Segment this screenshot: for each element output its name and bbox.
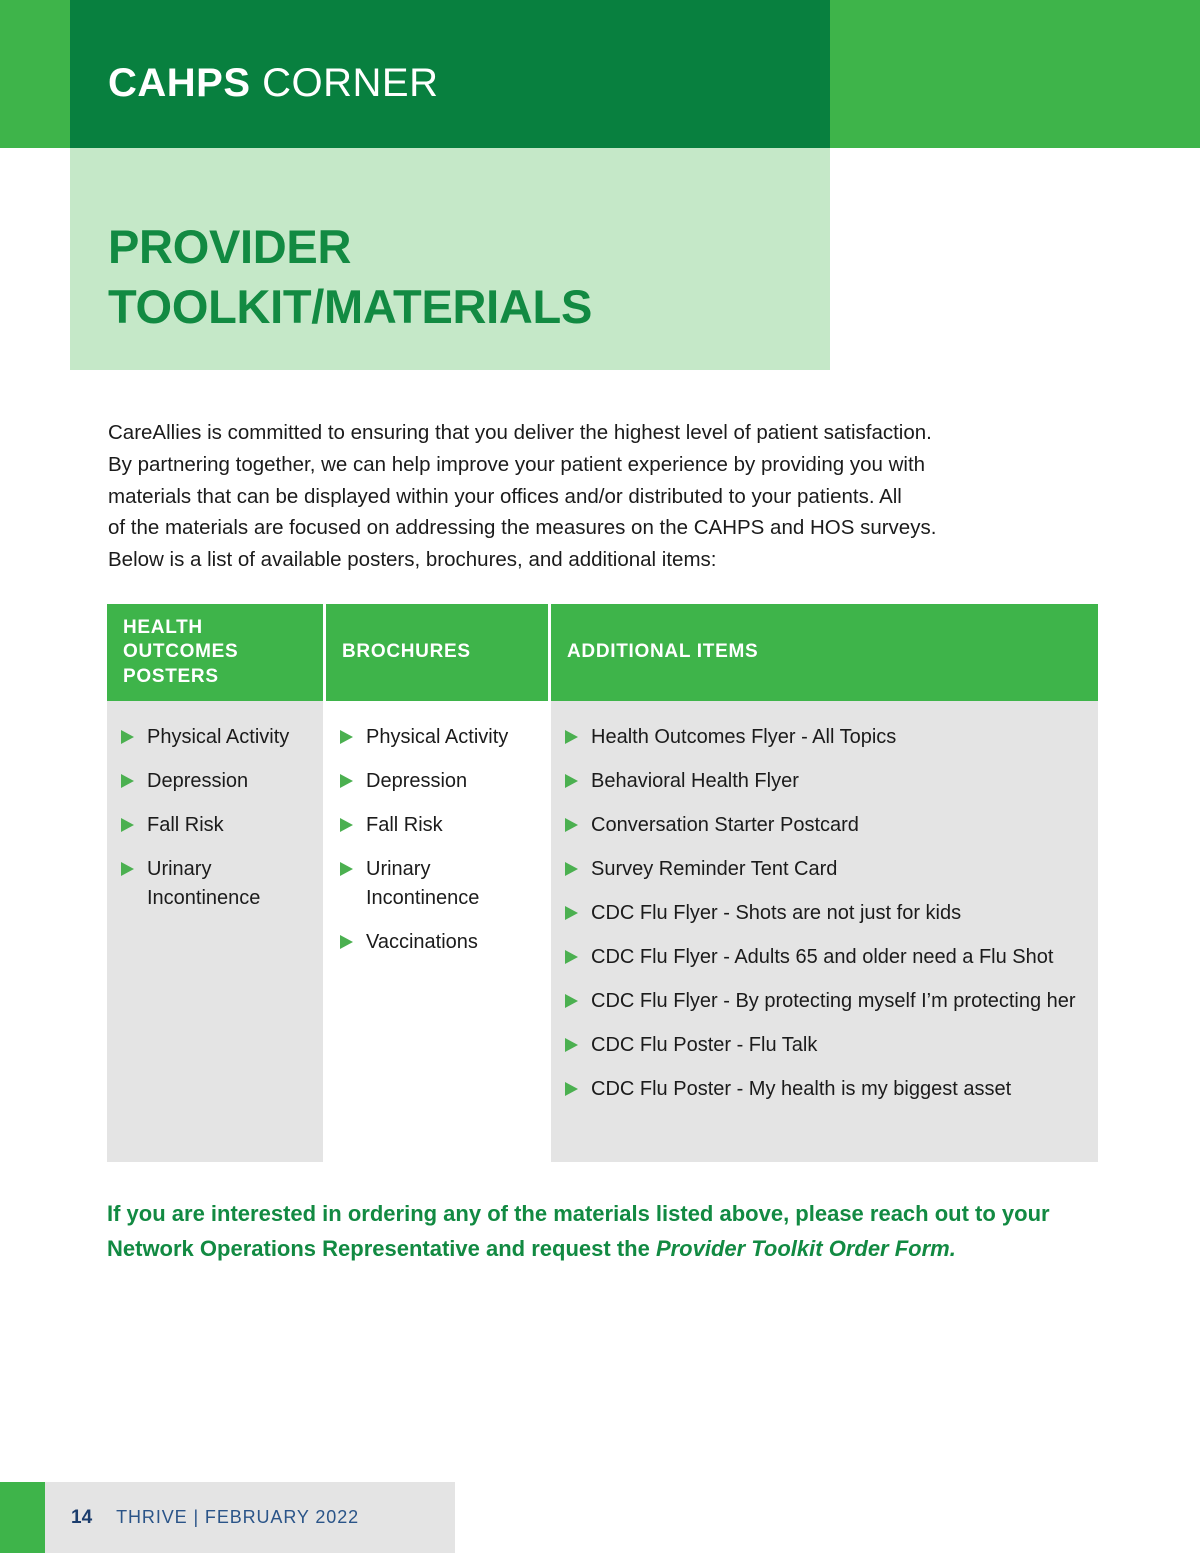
table-cell-health-outcomes-posters: Physical Activity Depression Fall Risk U… [107,701,323,1162]
closing-note: If you are interested in ordering any of… [107,1196,1107,1266]
list-item-label: CDC Flu Flyer - Adults 65 and older need… [591,943,1084,972]
triangle-right-icon [565,994,578,1008]
list-item: Urinary Incontinence [121,855,309,913]
triangle-right-icon [565,1038,578,1052]
page-title: PROVIDER TOOLKIT/MATERIALS [108,217,808,337]
intro-paragraph: CareAllies is committed to ensuring that… [108,417,1103,576]
list-item-label: Physical Activity [366,723,534,752]
list-item: CDC Flu Flyer - Shots are not just for k… [565,899,1084,928]
triangle-right-icon [121,862,134,876]
list-item: Fall Risk [340,811,534,840]
triangle-right-icon [121,774,134,788]
page-title-line-2: TOOLKIT/MATERIALS [108,277,808,337]
banner-title-light: CORNER [262,61,438,105]
list-item: Behavioral Health Flyer [565,767,1084,796]
list-item-label: CDC Flu Flyer - By protecting myself I’m… [591,987,1084,1016]
table-cell-brochures: Physical Activity Depression Fall Risk U… [326,701,548,1162]
list-item: Urinary Incontinence [340,855,534,913]
list-item: CDC Flu Flyer - Adults 65 and older need… [565,943,1084,972]
footer-meta: THRIVE | FEBRUARY 2022 [116,1507,359,1528]
intro-line-2: By partnering together, we can help impr… [108,449,1103,481]
triangle-right-icon [121,818,134,832]
list-item-label: CDC Flu Poster - Flu Talk [591,1031,1084,1060]
table-header-col1-line-1: HEALTH [123,616,238,640]
triangle-right-icon [340,730,353,744]
list-item: Survey Reminder Tent Card [565,855,1084,884]
list-item: Physical Activity [121,723,309,752]
list-item: CDC Flu Poster - Flu Talk [565,1031,1084,1060]
triangle-right-icon [340,935,353,949]
closing-note-italic: Provider Toolkit Order Form. [656,1236,956,1261]
list-item: Vaccinations [340,928,534,957]
list-item-label: Depression [147,767,309,796]
table-body-row: Physical Activity Depression Fall Risk U… [107,701,1098,1162]
list-item: Conversation Starter Postcard [565,811,1084,840]
page: CAHPS CORNER PROVIDER TOOLKIT/MATERIALS … [0,0,1200,1553]
triangle-right-icon [565,1082,578,1096]
intro-line-3: materials that can be displayed within y… [108,481,1103,513]
list-item-label: Fall Risk [366,811,534,840]
list-item-label: Urinary Incontinence [147,855,309,913]
triangle-right-icon [565,818,578,832]
footer-accent-block [0,1482,45,1553]
triangle-right-icon [565,906,578,920]
table-cell-additional-items: Health Outcomes Flyer - All Topics Behav… [551,701,1098,1162]
list-item-label: Behavioral Health Flyer [591,767,1084,796]
table-header-additional-items: ADDITIONAL ITEMS [551,604,1098,701]
table-header-col1-line-3: POSTERS [123,665,238,689]
triangle-right-icon [565,862,578,876]
table-header-col2-label: BROCHURES [342,640,471,664]
list-item-label: Urinary Incontinence [366,855,534,913]
list-item: CDC Flu Flyer - By protecting myself I’m… [565,987,1084,1016]
list-item-label: CDC Flu Poster - My health is my biggest… [591,1075,1084,1104]
banner-title-strong: CAHPS [108,61,251,105]
table-header-row: HEALTH OUTCOMES POSTERS BROCHURES ADDITI… [107,604,1098,701]
triangle-right-icon [121,730,134,744]
list-item: Health Outcomes Flyer - All Topics [565,723,1084,752]
table-header-col1-line-2: OUTCOMES [123,640,238,664]
intro-line-5: Below is a list of available posters, br… [108,544,1103,576]
list-item: Depression [121,767,309,796]
triangle-right-icon [340,862,353,876]
triangle-right-icon [565,774,578,788]
list-item-label: Conversation Starter Postcard [591,811,1084,840]
footer-page-number: 14 [71,1507,92,1529]
list-item: Depression [340,767,534,796]
list-item: Fall Risk [121,811,309,840]
table-header-brochures: BROCHURES [326,604,548,701]
triangle-right-icon [565,730,578,744]
banner-title: CAHPS CORNER [108,63,439,103]
page-title-line-1: PROVIDER [108,217,808,277]
triangle-right-icon [565,950,578,964]
table-header-health-outcomes-posters: HEALTH OUTCOMES POSTERS [107,604,323,701]
list-item-label: Depression [366,767,534,796]
triangle-right-icon [340,774,353,788]
list-item-label: Fall Risk [147,811,309,840]
triangle-right-icon [340,818,353,832]
table-header-col3-label: ADDITIONAL ITEMS [567,640,758,664]
intro-line-1: CareAllies is committed to ensuring that… [108,417,1103,449]
list-item-label: Health Outcomes Flyer - All Topics [591,723,1084,752]
list-item-label: Vaccinations [366,928,534,957]
intro-line-4: of the materials are focused on addressi… [108,512,1103,544]
list-item-label: Survey Reminder Tent Card [591,855,1084,884]
materials-table: HEALTH OUTCOMES POSTERS BROCHURES ADDITI… [107,604,1098,1162]
footer-bar: 14 THRIVE | FEBRUARY 2022 [45,1482,455,1553]
list-item-label: Physical Activity [147,723,309,752]
list-item: Physical Activity [340,723,534,752]
list-item-label: CDC Flu Flyer - Shots are not just for k… [591,899,1084,928]
list-item: CDC Flu Poster - My health is my biggest… [565,1075,1084,1104]
